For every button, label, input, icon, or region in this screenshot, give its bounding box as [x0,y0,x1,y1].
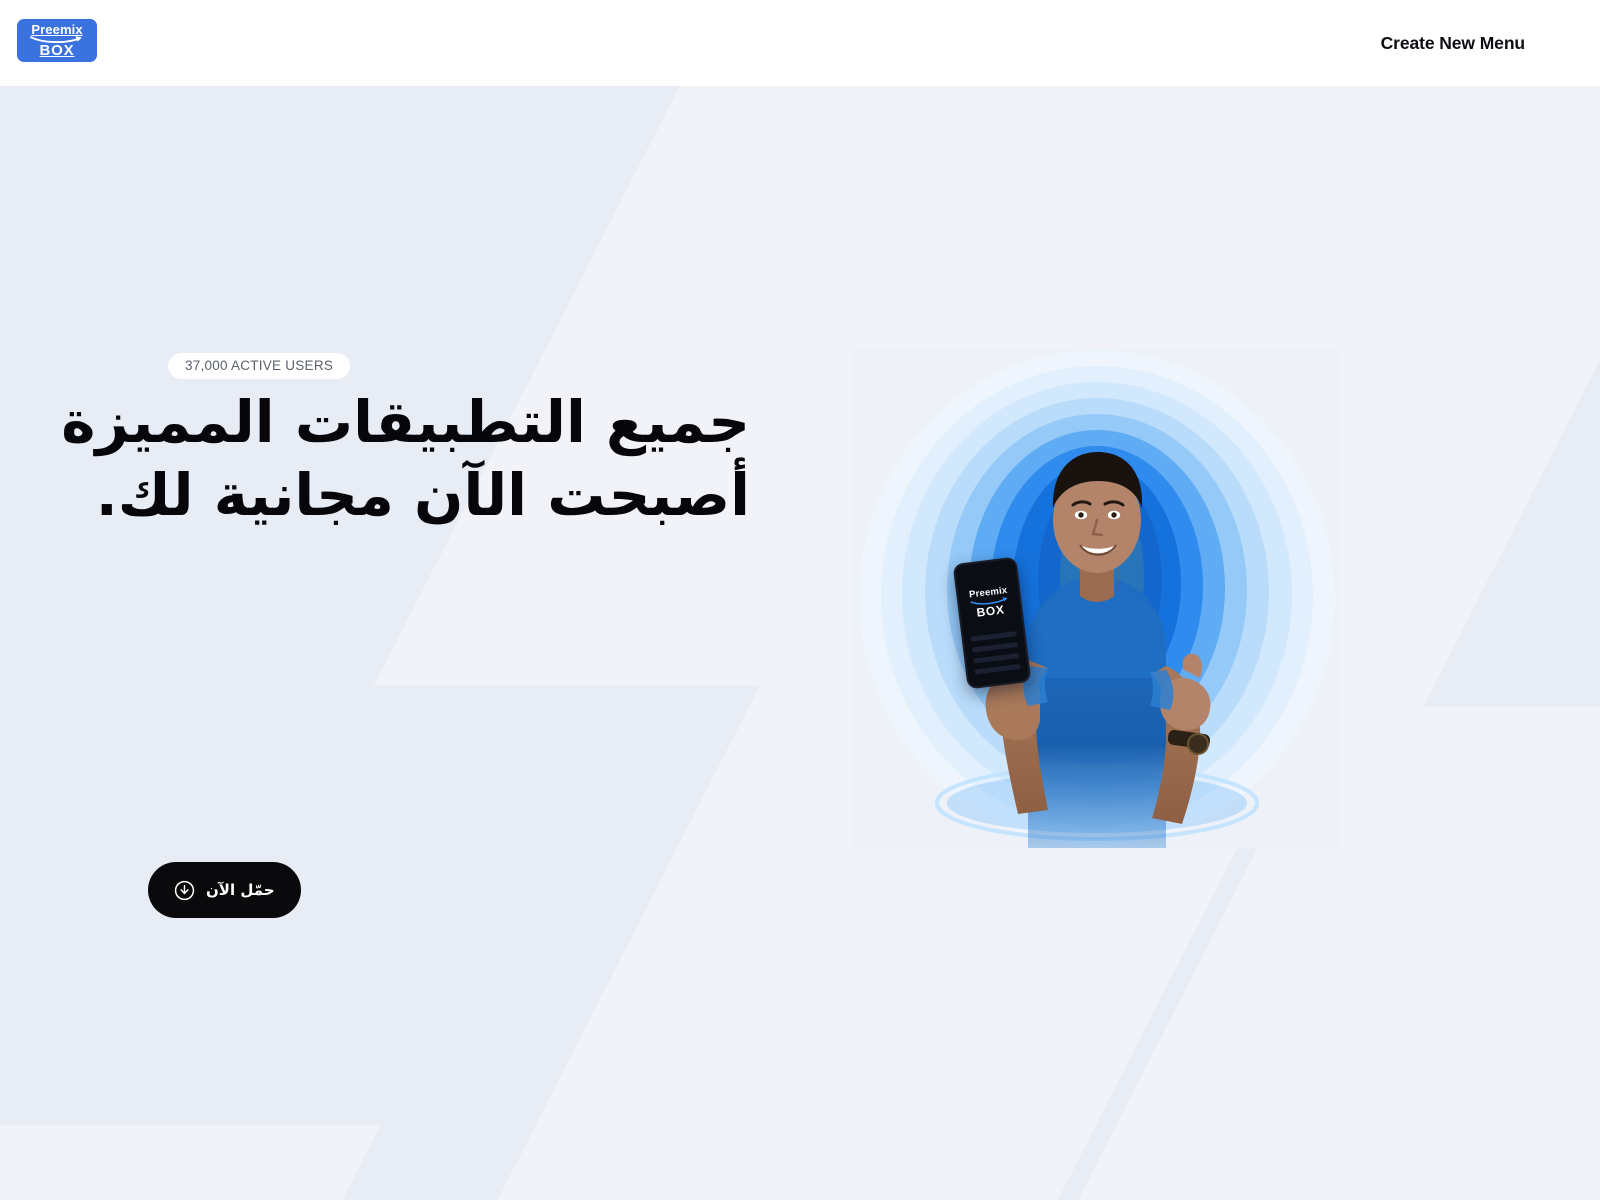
preemix-box-logo[interactable]: Preemix BOX [17,19,97,62]
download-now-label: حمّل الآن [206,883,275,898]
site-header: Preemix BOX Create New Menu [0,0,1600,86]
hero-section: 37,000 ACTIVE USERS جميع التطبيقات الممي… [0,86,1600,1200]
phone-screen-row [973,653,1019,664]
phone-screen-row [972,642,1018,653]
hero-headline-line-1: جميع التطبيقات المميزة [0,386,750,459]
person-graphic [852,348,1342,848]
phone-screen-logo: Preemix BOX [958,585,1021,621]
hero-copy: 37,000 ACTIVE USERS جميع التطبيقات الممي… [0,86,800,1200]
download-circle-icon [174,880,195,901]
phone-screen-rows [971,631,1022,680]
hero-visual: Preemix BOX [852,348,1342,848]
phone-screen-row [975,664,1021,675]
hero-headline-line-2: أصبحت الآن مجانية لك. [0,459,750,532]
landing-page: Preemix BOX Create New Menu 37,000 ACTIV… [0,0,1600,1200]
header-nav: Create New Menu [1381,0,1525,86]
create-new-menu-link[interactable]: Create New Menu [1381,33,1525,54]
hero-headline: جميع التطبيقات المميزة أصبحت الآن مجانية… [0,386,750,532]
hero-person-figure: Preemix BOX [852,348,1342,848]
logo-word-box: BOX [40,43,75,58]
download-now-button[interactable]: حمّل الآن [148,862,301,918]
active-users-badge-label: 37,000 ACTIVE USERS [185,359,333,373]
phone-screen-row [971,631,1017,642]
active-users-badge: 37,000 ACTIVE USERS [168,353,350,379]
